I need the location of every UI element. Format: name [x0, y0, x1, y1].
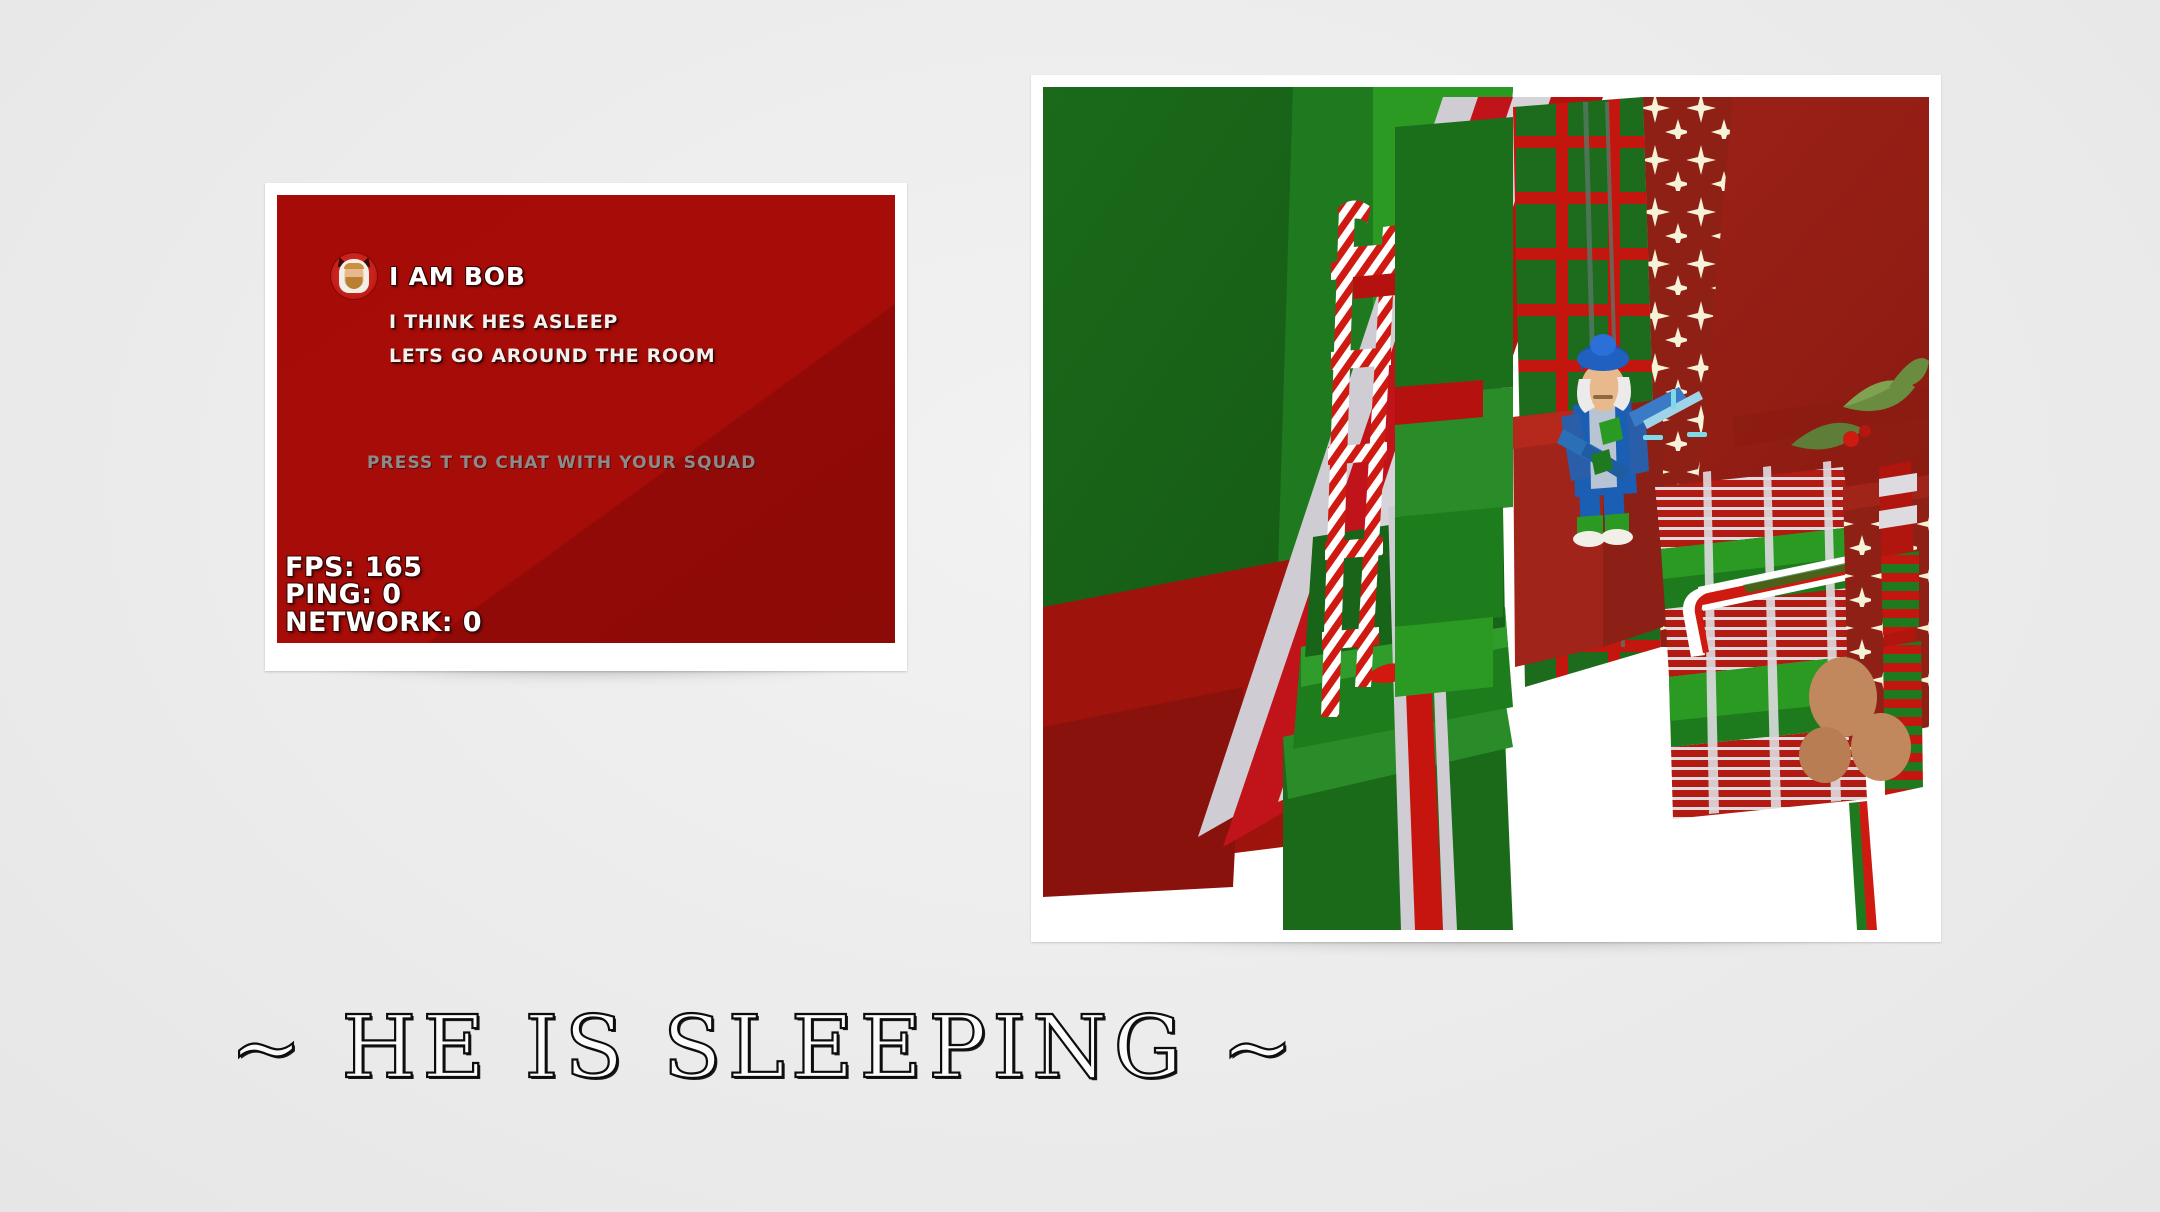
caption-text: ~ HE IS SLEEPING ~ [230, 1005, 1300, 1091]
santa-face-avatar-icon [331, 253, 377, 299]
chat-headline: I AM BOB [331, 253, 715, 299]
chat-speaker-name: I AM BOB [389, 262, 526, 291]
game-screenshot-card [1031, 75, 1941, 942]
hud-network: NETWORK: 0 [285, 609, 482, 637]
chat-message-block: I AM BOB I THINK HES ASLEEP LETS GO AROU… [331, 253, 715, 367]
game-scene-svg [1043, 87, 1929, 930]
hud-fps: FPS: 165 [285, 554, 482, 582]
chat-game-screen: I AM BOB I THINK HES ASLEEP LETS GO AROU… [277, 195, 895, 643]
game-scene [1043, 87, 1929, 930]
hud-ping: PING: 0 [285, 581, 482, 609]
chat-hint-text: PRESS T TO CHAT WITH YOUR SQUAD [367, 453, 756, 473]
chat-message-line: I THINK HES ASLEEP [389, 311, 715, 333]
chat-screenshot-card: I AM BOB I THINK HES ASLEEP LETS GO AROU… [265, 183, 907, 671]
avatar-hair [344, 263, 364, 269]
hud-stats-panel: FPS: 165 PING: 0 NETWORK: 0 [285, 554, 482, 637]
chat-message-line: LETS GO AROUND THE ROOM [389, 345, 715, 367]
